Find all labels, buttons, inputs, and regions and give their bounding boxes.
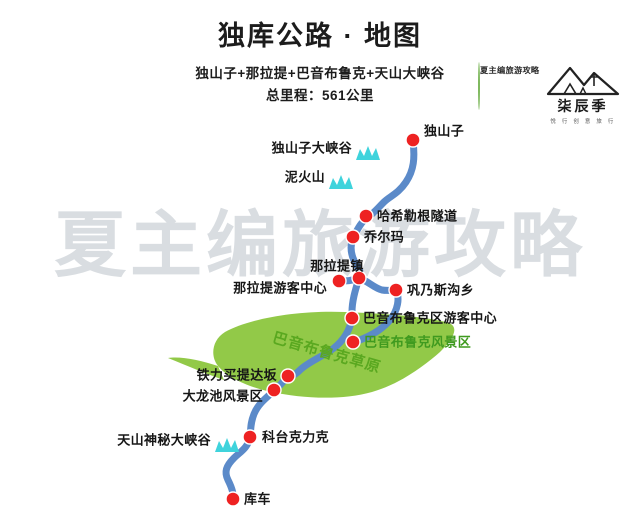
marker-kuche[interactable]: [226, 492, 240, 506]
marker-haxilegen[interactable]: [359, 209, 373, 223]
label-nihuoshan[interactable]: 泥火山: [285, 171, 325, 184]
marker-qiaoerma[interactable]: [346, 230, 360, 244]
marker-gongnaisi[interactable]: [389, 283, 403, 297]
mountain-logo-icon: [540, 62, 626, 96]
label-dushanzi-canyon[interactable]: 独山子大峡谷: [272, 142, 352, 155]
label-qiaoerma[interactable]: 乔尔玛: [364, 231, 404, 244]
marker-bayin-center[interactable]: [345, 311, 359, 325]
label-tielimaiti[interactable]: 铁力买提达坂: [197, 369, 277, 382]
label-ketaikelike[interactable]: 科台克力克: [262, 431, 329, 444]
marker-dushanzi[interactable]: [406, 133, 420, 147]
marker-tielimaiti[interactable]: [281, 369, 295, 383]
label-haxilegen[interactable]: 哈希勒根隧道: [377, 210, 457, 223]
label-gongnaisi[interactable]: 巩乃斯沟乡: [407, 284, 474, 297]
mountain-icon-dushanzi-canyon: [356, 146, 380, 160]
xiazhubian-logo[interactable]: 夏主编旅游攻略 夏主编旅游攻略: [478, 62, 536, 110]
qichenji-logo-subcaption: 悦 行 创 意 旅 行: [540, 117, 626, 125]
label-naleti-center[interactable]: 那拉提游客中心: [233, 282, 327, 295]
mountain-icon-nihuoshan: [329, 175, 353, 189]
map-poster: 夏主编旅游攻略: [0, 0, 640, 524]
xiazhubian-logo-badge-icon: 夏主编旅游攻略: [478, 62, 480, 110]
label-tianshan-canyon[interactable]: 天山神秘大峡谷: [117, 434, 211, 447]
qichenji-logo[interactable]: 柒辰季 悦 行 创 意 旅 行: [540, 62, 626, 125]
xiazhubian-logo-caption: 夏主编旅游攻略: [480, 64, 539, 76]
label-dalongchi[interactable]: 大龙池风景区: [183, 390, 263, 403]
qichenji-logo-caption: 柒辰季: [540, 96, 626, 116]
label-dushanzi[interactable]: 独山子: [424, 125, 464, 138]
label-bayin-scenic[interactable]: 巴音布鲁克风景区: [364, 336, 471, 349]
marker-naleti-center[interactable]: [332, 274, 346, 288]
marker-ketaikelike[interactable]: [243, 430, 257, 444]
mountain-icon-tianshan-canyon: [215, 438, 239, 452]
page-title: 独库公路 · 地图: [0, 14, 640, 53]
label-naleti-town[interactable]: 那拉提镇: [310, 260, 364, 273]
label-kuche[interactable]: 库车: [244, 493, 271, 506]
label-bayin-center[interactable]: 巴音布鲁克区游客中心: [363, 312, 497, 325]
marker-dalongchi[interactable]: [267, 383, 281, 397]
